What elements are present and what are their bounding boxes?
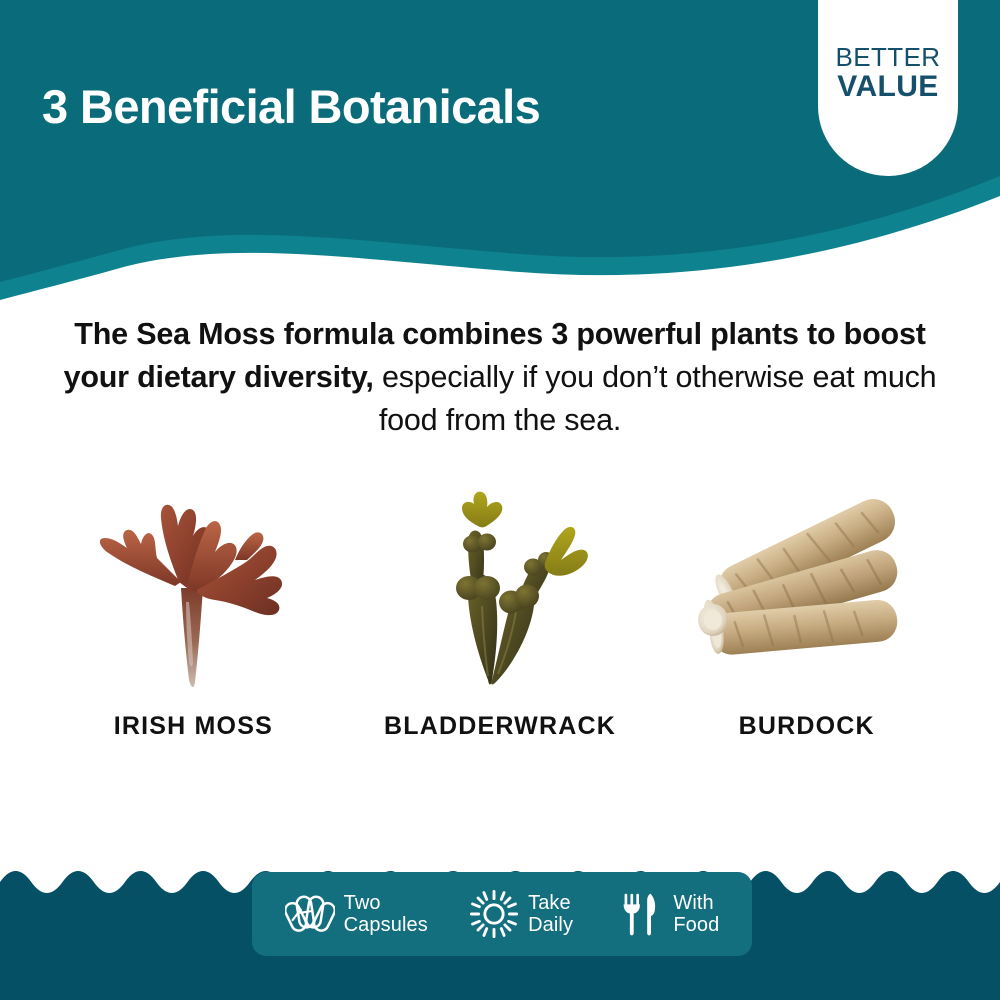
instruction-text-frequency: Take Daily [528,892,573,937]
botanicals-row: IRISH MOSS [40,470,960,790]
page-title: 3 Beneficial Botanicals [42,83,540,130]
badge-line-value: VALUE [837,71,938,103]
botanical-item-irish-moss: IRISH MOSS [40,470,347,790]
product-infographic: 3 Beneficial Botanicals BETTER VALUE The… [0,0,1000,1000]
botanical-label-burdock: BURDOCK [739,712,875,741]
irish-moss-illustration [63,470,323,700]
fork-knife-icon [614,889,664,939]
better-value-badge: BETTER VALUE [818,0,958,176]
instruction-line-2: Capsules [344,914,428,936]
instruction-text-dosage: Two Capsules [344,892,428,937]
instruction-line-1: Take [528,892,571,914]
botanical-item-burdock: BURDOCK [653,470,960,790]
usage-instructions-bar: Two Capsules [252,872,752,956]
instruction-text-with-food: With Food [673,892,719,937]
description-paragraph: The Sea Moss formula combines 3 powerful… [60,313,940,443]
botanical-item-bladderwrack: BLADDERWRACK [347,470,654,790]
sun-icon [469,889,519,939]
bladderwrack-illustration [370,470,630,700]
instruction-line-2: Food [673,914,719,936]
instruction-line-1: Two [344,892,381,914]
capsules-icon [285,889,335,939]
instruction-item-frequency: Take Daily [469,889,573,939]
burdock-root-illustration [677,470,937,700]
instruction-line-2: Daily [528,914,573,936]
instruction-item-dosage: Two Capsules [285,889,428,939]
instruction-item-with-food: With Food [614,889,719,939]
botanical-label-bladderwrack: BLADDERWRACK [384,712,616,741]
description-normal-text: especially if you don’t otherwise eat mu… [374,360,937,437]
botanical-label-irish-moss: IRISH MOSS [114,712,273,741]
instruction-line-1: With [673,892,713,914]
badge-line-better: BETTER [836,44,941,71]
